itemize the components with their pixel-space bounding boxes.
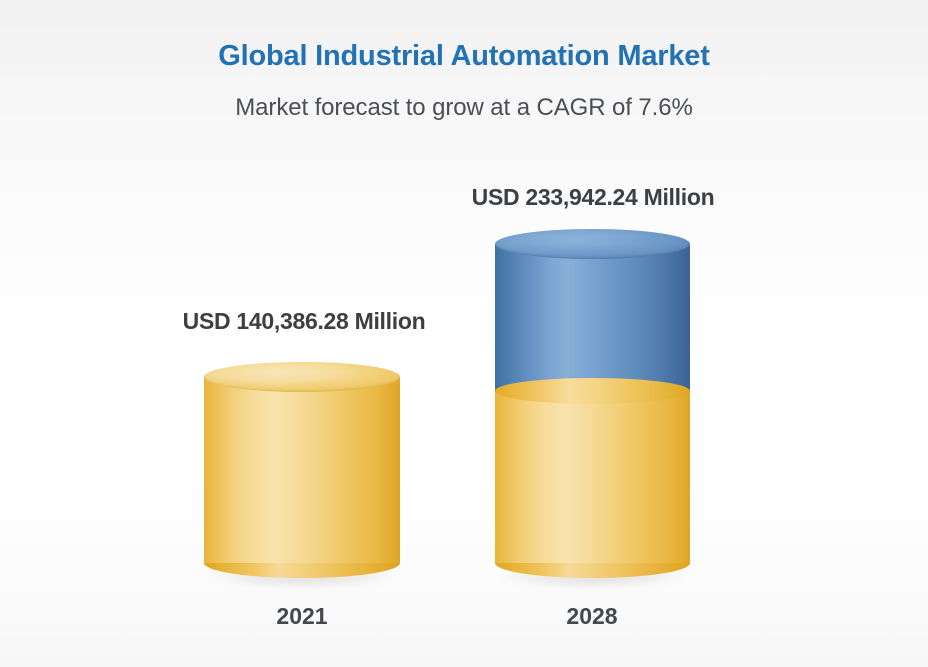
bar-cylinder-2028[interactable] [495,229,690,578]
bar-top-ellipse-2028 [495,229,690,259]
bar-segment-divider-2028 [495,378,690,404]
category-label-2028: 2028 [493,603,691,630]
chart-container: Global Industrial Automation Market Mark… [0,0,928,667]
chart-subtitle: Market forecast to grow at a CAGR of 7.6… [0,94,928,122]
bar-cylinder-2021[interactable] [204,362,400,578]
bar-body-lower-2028 [495,390,690,563]
chart-title: Global Industrial Automation Market [0,40,928,73]
bar-body-upper-2028 [495,244,690,392]
value-label-2021: USD 140,386.28 Million [154,308,454,335]
bar-top-ellipse-2021 [204,362,400,392]
bar-body-2021 [204,377,400,563]
category-label-2021: 2021 [202,603,402,630]
value-label-2028: USD 233,942.24 Million [443,184,743,211]
